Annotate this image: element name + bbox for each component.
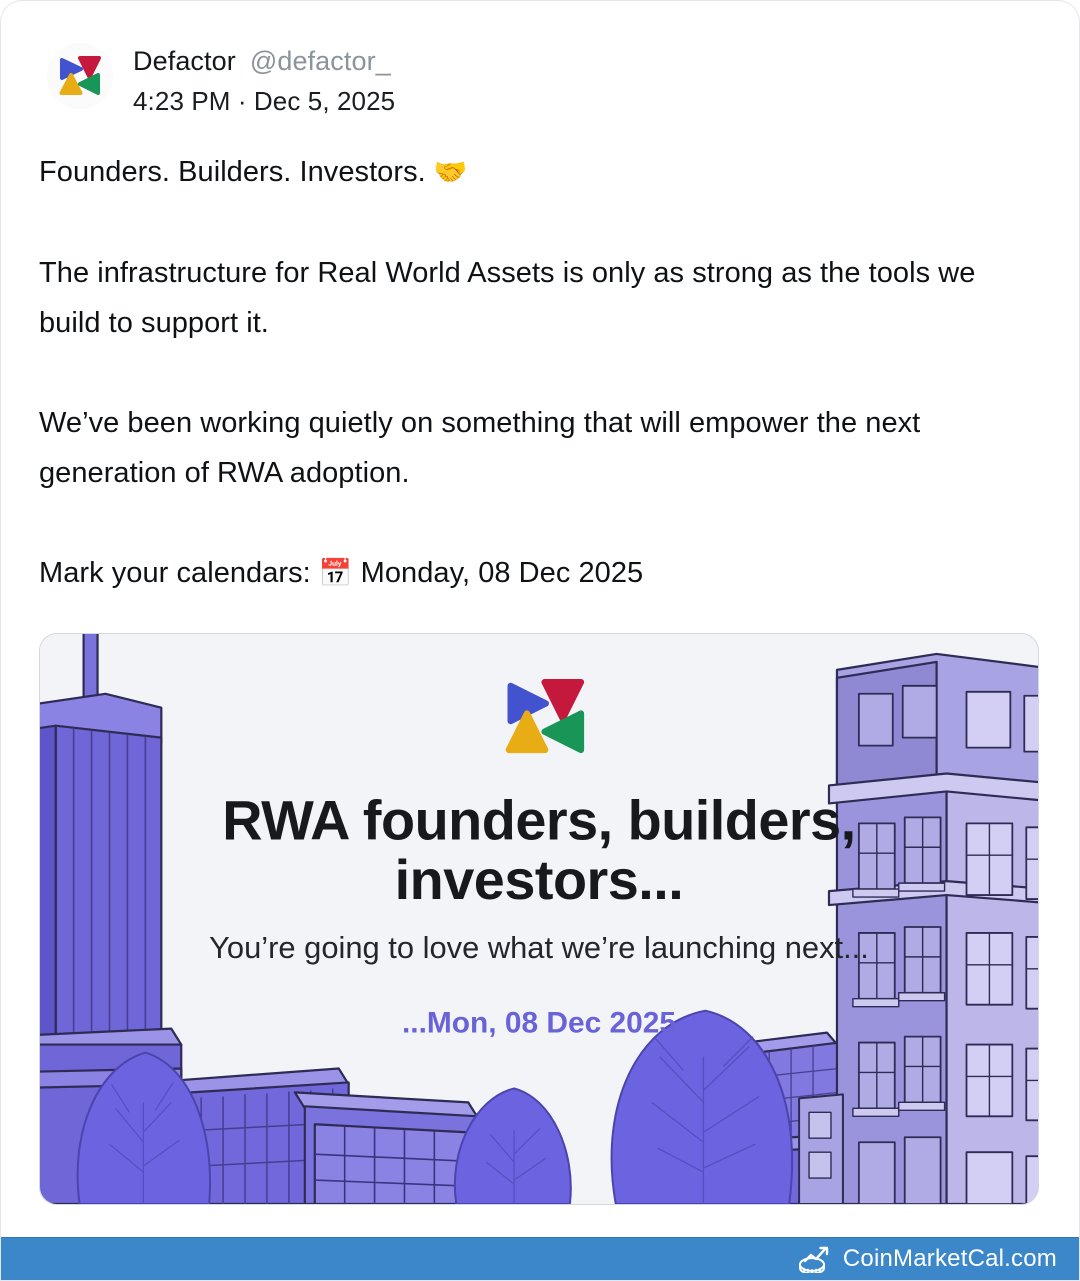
avatar[interactable]: [47, 43, 113, 109]
svg-text:investors...: investors...: [395, 848, 684, 911]
author-name-row: Defactor @defactor_: [133, 45, 395, 79]
author-display-name[interactable]: Defactor: [133, 45, 236, 79]
author-block: Defactor @defactor_ 4:23 PM · Dec 5, 202…: [133, 43, 395, 117]
svg-text:...Mon, 08 Dec 2025: ...Mon, 08 Dec 2025: [402, 1006, 676, 1039]
paragraph-4-text-before: Mark your calendars:: [39, 557, 319, 589]
tweet-paragraph-3: We’ve been working quietly on something …: [39, 398, 1039, 498]
paragraph-4-text-after: Monday, 08 Dec 2025: [353, 557, 644, 589]
svg-text:You’re going to love what we’r: You’re going to love what we’re launchin…: [209, 930, 869, 965]
footer-label: CoinMarketCal.com: [843, 1245, 1057, 1273]
paragraph-1-text: Founders. Builders. Investors.: [39, 156, 434, 188]
calendar-emoji: 📅: [319, 558, 353, 589]
svg-text:RWA founders, builders,: RWA founders, builders,: [222, 788, 855, 851]
defactor-logo-four-triangles-icon: [47, 43, 113, 109]
handshake-emoji: 🤝: [434, 157, 468, 188]
tweet-paragraph-4: Mark your calendars: 📅 Monday, 08 Dec 20…: [39, 548, 1039, 599]
author-handle[interactable]: @defactor_: [250, 45, 391, 79]
tweet-timestamp[interactable]: 4:23 PM · Dec 5, 2025: [133, 86, 395, 117]
tweet-screenshot-page: Defactor @defactor_ 4:23 PM · Dec 5, 202…: [0, 0, 1080, 1281]
tweet-paragraph-1: Founders. Builders. Investors. 🤝: [39, 147, 1039, 198]
tweet-paragraph-2: The infrastructure for Real World Assets…: [39, 248, 1039, 348]
tweet-body: Founders. Builders. Investors. 🤝 The inf…: [1, 117, 1079, 599]
tweet-media-card[interactable]: RWA founders, builders, investors... You…: [39, 633, 1039, 1205]
tweet-header: Defactor @defactor_ 4:23 PM · Dec 5, 202…: [1, 1, 1079, 117]
rwa-announcement-banner-illustration: RWA founders, builders, investors... You…: [40, 634, 1038, 1204]
footer-watermark-bar: CoinMarketCal.com: [1, 1237, 1079, 1280]
coin-chart-icon: [798, 1246, 832, 1273]
